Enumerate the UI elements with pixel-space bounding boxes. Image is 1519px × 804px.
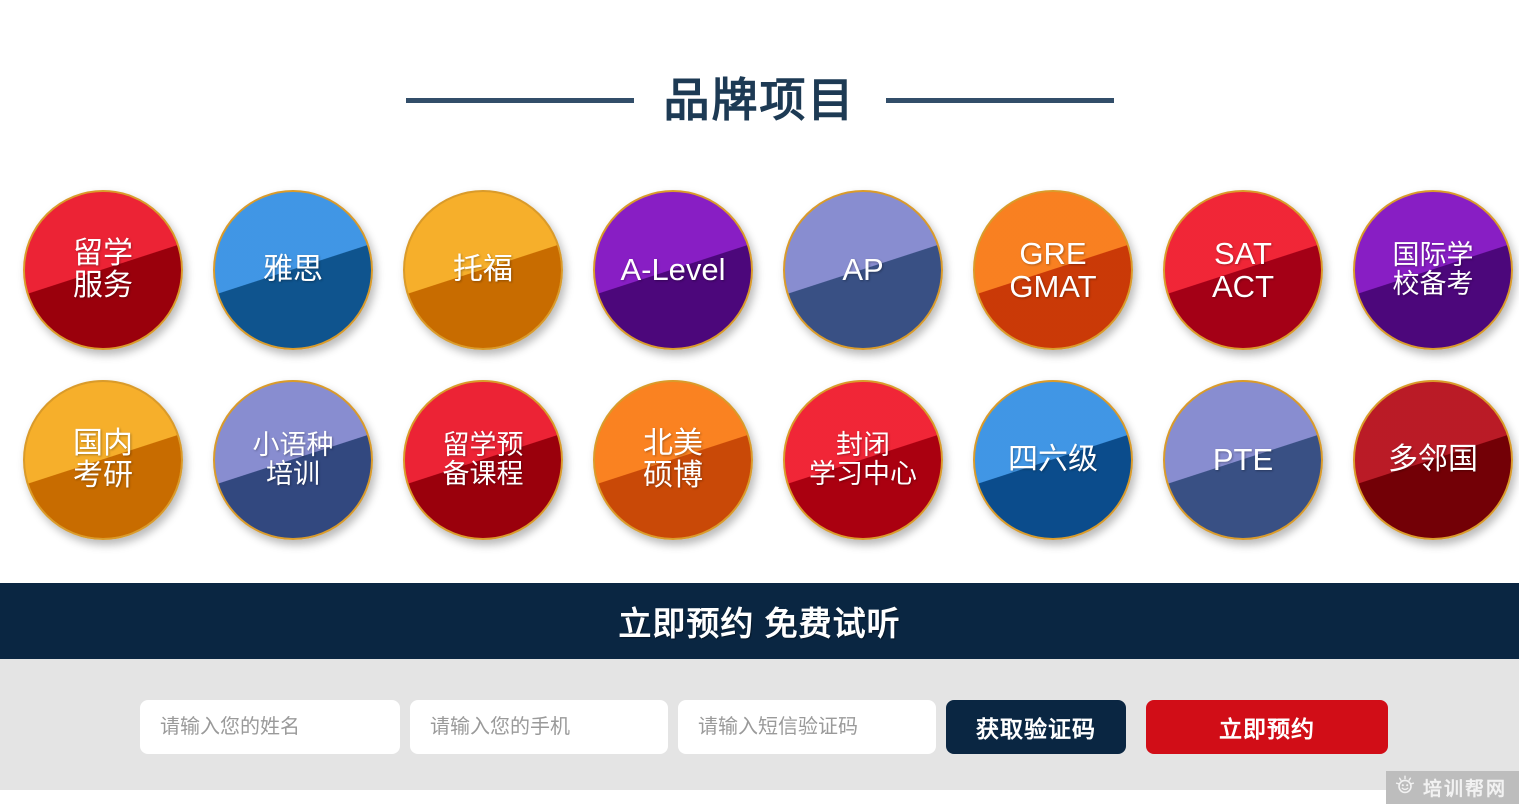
- page-title: 品牌项目: [664, 77, 856, 123]
- sun-face-icon: [1395, 775, 1415, 800]
- appointment-form-strip: 获取验证码 立即预约: [0, 659, 1519, 790]
- program-bubble-study-abroad-service[interactable]: 留学 服务: [23, 190, 183, 350]
- program-cell: 四六级: [958, 365, 1148, 555]
- program-cell: 托福: [388, 175, 578, 365]
- program-label: A-Level: [614, 253, 731, 286]
- program-bubble-ielts[interactable]: 雅思: [213, 190, 373, 350]
- program-label: GRE GMAT: [1003, 237, 1102, 304]
- program-label: AP: [836, 253, 889, 286]
- name-input[interactable]: [140, 700, 400, 754]
- program-label: 留学 服务: [67, 238, 139, 303]
- program-grid: 留学 服务雅思托福A-LevelAPGRE GMATSAT ACT国际学 校备考…: [0, 175, 1519, 565]
- program-cell: SAT ACT: [1148, 175, 1338, 365]
- program-bubble-closed-study-center[interactable]: 封闭 学习中心: [783, 380, 943, 540]
- program-bubble-duolingo[interactable]: 多邻国: [1353, 380, 1513, 540]
- program-bubble-cet-4-6[interactable]: 四六级: [973, 380, 1133, 540]
- program-label: PTE: [1207, 443, 1279, 476]
- program-row-1: 留学 服务雅思托福A-LevelAPGRE GMATSAT ACT国际学 校备考: [0, 175, 1519, 365]
- program-label: SAT ACT: [1206, 237, 1280, 304]
- program-bubble-domestic-postgraduate-exam[interactable]: 国内 考研: [23, 380, 183, 540]
- program-bubble-ap[interactable]: AP: [783, 190, 943, 350]
- program-label: 雅思: [257, 254, 329, 286]
- get-sms-code-button[interactable]: 获取验证码: [946, 700, 1126, 754]
- program-label: 多邻国: [1382, 444, 1484, 476]
- title-rule-right: [886, 98, 1114, 103]
- program-label: 小语种 培训: [247, 431, 340, 489]
- program-bubble-a-level[interactable]: A-Level: [593, 190, 753, 350]
- program-bubble-gre-gmat[interactable]: GRE GMAT: [973, 190, 1133, 350]
- program-label: 托福: [447, 254, 519, 286]
- program-cell: 多邻国: [1338, 365, 1519, 555]
- program-label: 国际学 校备考: [1387, 241, 1480, 299]
- program-bubble-minor-language-training[interactable]: 小语种 培训: [213, 380, 373, 540]
- submit-appointment-button[interactable]: 立即预约: [1146, 700, 1388, 754]
- sms-code-input[interactable]: [678, 700, 936, 754]
- program-cell: 国际学 校备考: [1338, 175, 1519, 365]
- cta-title: 立即预约 免费试听: [618, 597, 900, 645]
- program-bubble-north-america-master-phd[interactable]: 北美 硕博: [593, 380, 753, 540]
- phone-input[interactable]: [410, 700, 668, 754]
- program-bubble-sat-act[interactable]: SAT ACT: [1163, 190, 1323, 350]
- title-rule-left: [406, 98, 634, 103]
- program-label: 留学预 备课程: [437, 431, 530, 489]
- section-header: 品牌项目: [0, 62, 1519, 138]
- cta-banner: 立即预约 免费试听: [0, 583, 1519, 659]
- program-cell: 留学 服务: [8, 175, 198, 365]
- program-bubble-toefl[interactable]: 托福: [403, 190, 563, 350]
- program-cell: PTE: [1148, 365, 1338, 555]
- appointment-form: 获取验证码 立即预约: [140, 700, 1388, 754]
- program-bubble-international-school-prep[interactable]: 国际学 校备考: [1353, 190, 1513, 350]
- program-cell: AP: [768, 175, 958, 365]
- program-label: 国内 考研: [67, 428, 139, 493]
- program-cell: 雅思: [198, 175, 388, 365]
- program-cell: 留学预 备课程: [388, 365, 578, 555]
- watermark-text: 培训帮网: [1423, 774, 1507, 801]
- program-cell: A-Level: [578, 175, 768, 365]
- program-bubble-pte[interactable]: PTE: [1163, 380, 1323, 540]
- program-cell: 封闭 学习中心: [768, 365, 958, 555]
- watermark: 培训帮网: [1386, 771, 1519, 804]
- program-cell: 小语种 培训: [198, 365, 388, 555]
- program-label: 北美 硕博: [637, 428, 709, 493]
- program-label: 封闭 学习中心: [803, 431, 923, 489]
- program-cell: 国内 考研: [8, 365, 198, 555]
- program-label: 四六级: [1002, 444, 1104, 476]
- program-cell: GRE GMAT: [958, 175, 1148, 365]
- program-row-2: 国内 考研小语种 培训留学预 备课程北美 硕博封闭 学习中心四六级PTE多邻国: [0, 365, 1519, 555]
- program-bubble-study-abroad-prep-course[interactable]: 留学预 备课程: [403, 380, 563, 540]
- program-cell: 北美 硕博: [578, 365, 768, 555]
